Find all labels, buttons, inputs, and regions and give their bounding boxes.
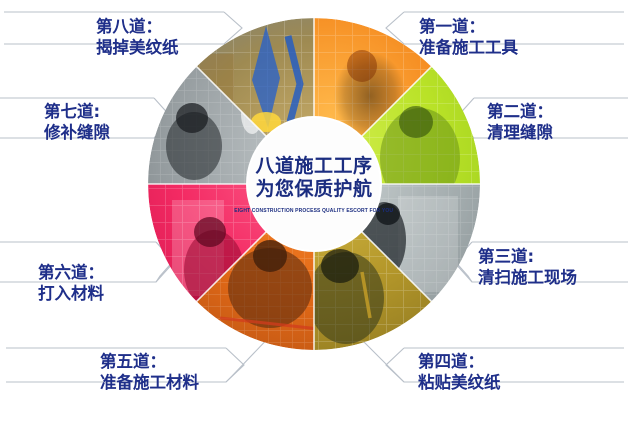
step-label-6[interactable]: 第六道： 打入材料 xyxy=(38,262,104,304)
step-label-4[interactable]: 第四道： 粘贴美纹纸 xyxy=(418,351,501,393)
step-5-title: 准备施工材料 xyxy=(100,372,199,393)
step-7-title: 修补缝隙 xyxy=(44,122,110,143)
step-6-title: 打入材料 xyxy=(38,283,104,304)
center-english-tagline: EIGHT CONSTRUCTION PROCESS QUALITY ESCOR… xyxy=(235,208,394,214)
step-label-2[interactable]: 第二道： 清理缝隙 xyxy=(487,101,553,143)
leader-bracket-4 xyxy=(386,348,404,382)
step-3-title: 清扫施工现场 xyxy=(478,267,577,288)
step-8-ordinal: 第八道： xyxy=(96,16,179,37)
step-label-5[interactable]: 第五道： 准备施工材料 xyxy=(100,351,199,393)
step-8-title: 揭掉美纹纸 xyxy=(96,37,179,58)
center-hub: 八道施工工序 为您保质护航 EIGHT CONSTRUCTION PROCESS… xyxy=(248,118,380,250)
step-4-title: 粘贴美纹纸 xyxy=(418,372,501,393)
step-label-8[interactable]: 第八道： 揭掉美纹纸 xyxy=(96,16,179,58)
step-1-title: 准备施工工具 xyxy=(419,37,518,58)
step-2-title: 清理缝隙 xyxy=(487,122,553,143)
process-donut-chart: 八道施工工序 为您保质护航 EIGHT CONSTRUCTION PROCESS… xyxy=(148,18,480,350)
step-5-ordinal: 第五道： xyxy=(100,351,199,372)
step-label-1[interactable]: 第一道： 准备施工工具 xyxy=(419,16,518,58)
step-7-ordinal: 第七道: xyxy=(44,101,110,122)
step-2-ordinal: 第二道： xyxy=(487,101,553,122)
leader-bracket-5 xyxy=(226,348,244,382)
step-6-ordinal: 第六道： xyxy=(38,262,104,283)
step-3-ordinal: 第三道: xyxy=(478,246,577,267)
step-4-ordinal: 第四道： xyxy=(418,351,501,372)
step-label-7[interactable]: 第七道: 修补缝隙 xyxy=(44,101,110,143)
step-1-ordinal: 第一道： xyxy=(419,16,518,37)
infographic-canvas: 八道施工工序 为您保质护航 EIGHT CONSTRUCTION PROCESS… xyxy=(0,0,628,427)
center-line-1: 八道施工工序 xyxy=(255,155,372,178)
center-line-2: 为您保质护航 xyxy=(255,178,372,201)
step-label-3[interactable]: 第三道: 清扫施工现场 xyxy=(478,246,577,288)
